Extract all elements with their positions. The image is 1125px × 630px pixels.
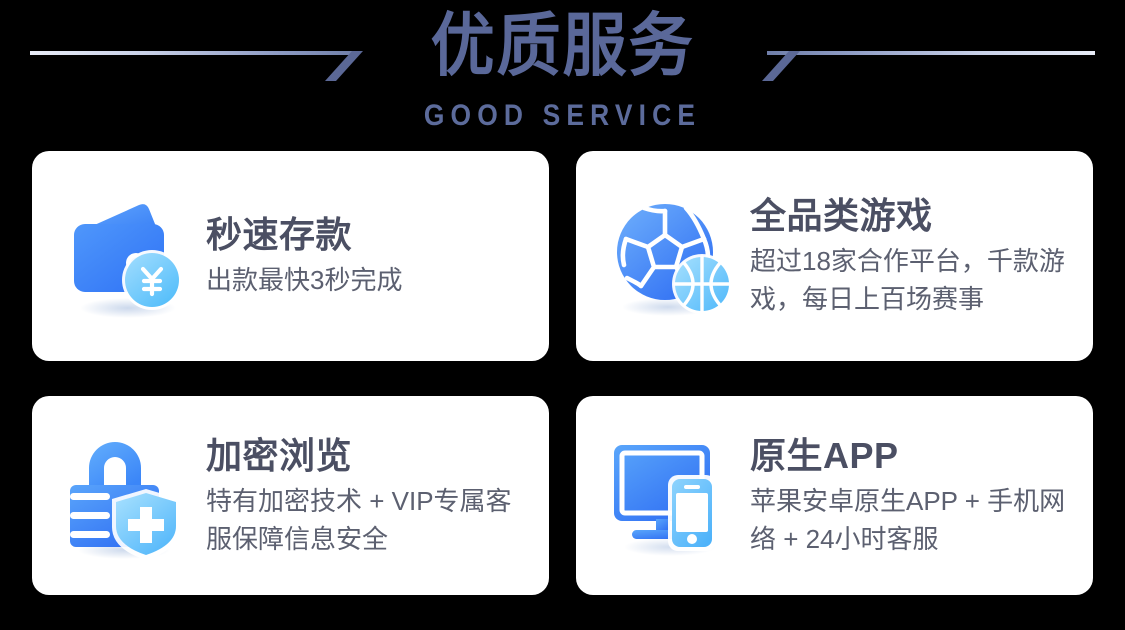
page-header: 优质服务 GOOD SERVICE xyxy=(0,0,1125,150)
feature-card-native-app[interactable]: 原生APP 苹果安卓原生APP + 手机网络 + 24小时客服 xyxy=(576,396,1093,595)
feature-card-instant-deposit[interactable]: 秒速存款 出款最快3秒完成 xyxy=(32,151,549,361)
feature-card-all-game-categories[interactable]: 全品类游戏 超过18家合作平台，千款游戏，每日上百场赛事 xyxy=(576,151,1093,361)
page-title: 优质服务 xyxy=(39,7,1085,85)
card-text-block: 全品类游戏 超过18家合作平台，千款游戏，每日上百场赛事 xyxy=(736,194,1069,318)
feature-card-grid: 秒速存款 出款最快3秒完成 xyxy=(32,151,1093,595)
card-title: 全品类游戏 xyxy=(750,194,1069,238)
page-subtitle: GOOD SERVICE xyxy=(68,99,1058,133)
card-description: 超过18家合作平台，千款游戏，每日上百场赛事 xyxy=(750,242,1069,318)
card-title: 秒速存款 xyxy=(206,213,525,257)
card-description: 苹果安卓原生APP + 手机网络 + 24小时客服 xyxy=(750,482,1069,558)
card-title: 加密浏览 xyxy=(206,434,525,478)
card-title: 原生APP xyxy=(750,434,1069,478)
card-text-block: 加密浏览 特有加密技术 + VIP专属客服保障信息安全 xyxy=(192,434,525,558)
card-text-block: 秒速存款 出款最快3秒完成 xyxy=(192,213,525,299)
lock-shield-icon xyxy=(62,431,192,561)
card-text-block: 原生APP 苹果安卓原生APP + 手机网络 + 24小时客服 xyxy=(736,434,1069,558)
feature-card-encrypted-browsing[interactable]: 加密浏览 特有加密技术 + VIP专属客服保障信息安全 xyxy=(32,396,549,595)
monitor-phone-icon xyxy=(606,431,736,561)
wallet-icon xyxy=(62,191,192,321)
soccer-basketball-icon xyxy=(606,191,736,321)
card-description: 特有加密技术 + VIP专属客服保障信息安全 xyxy=(206,482,525,558)
card-description: 出款最快3秒完成 xyxy=(206,261,525,299)
